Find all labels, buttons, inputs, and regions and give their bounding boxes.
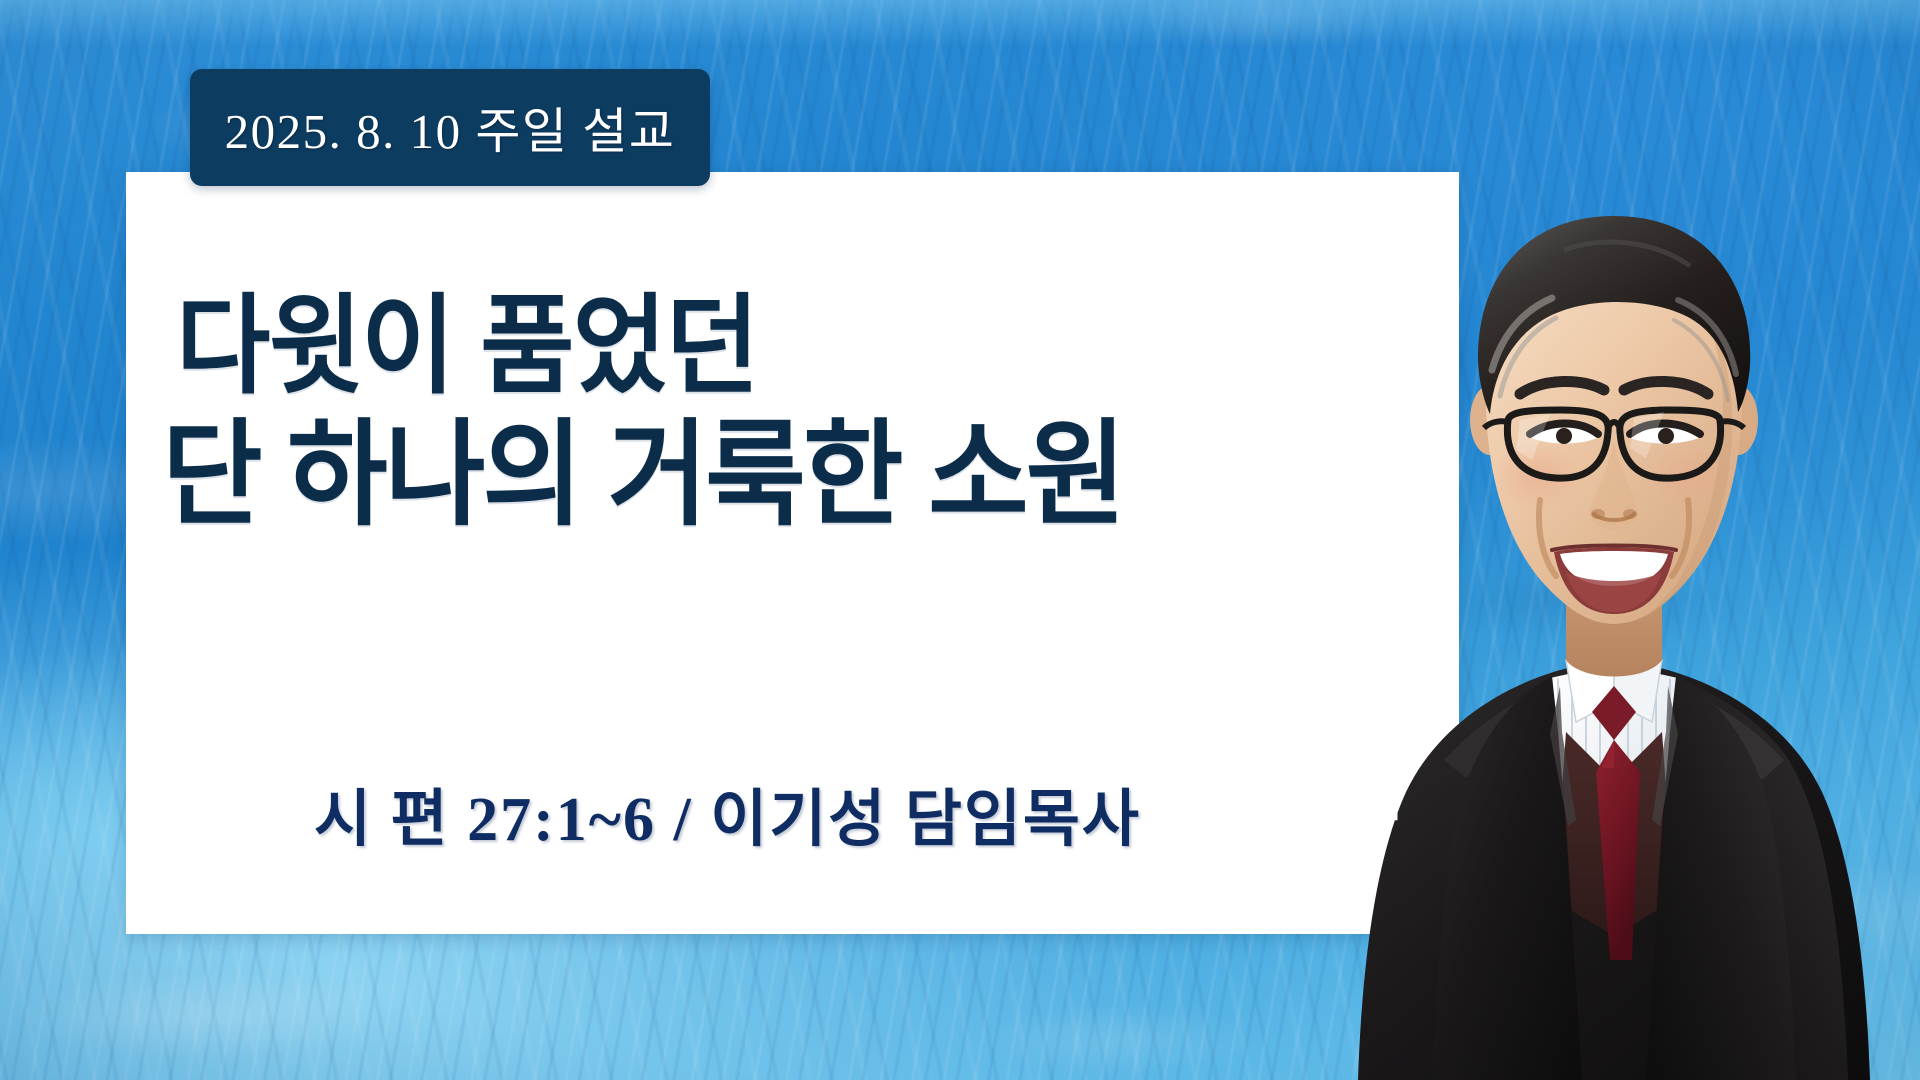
date-badge: 2025. 8. 10 주일 설교	[190, 69, 710, 186]
speaker-portrait	[1314, 120, 1874, 1080]
content-card: 다윗이 품었던 단 하나의 거룩한 소원 시 편 27:1~6 / 이기성 담임…	[126, 172, 1459, 934]
sermon-title-line-1: 다윗이 품었던	[176, 292, 758, 400]
sermon-title-block: 다윗이 품었던 단 하나의 거룩한 소원	[126, 292, 1459, 533]
sermon-title-line-2: 단 하나의 거룩한 소원	[162, 418, 1123, 533]
scripture-and-speaker-line: 시 편 27:1~6 / 이기성 담임목사	[126, 768, 1459, 858]
date-badge-label: 2025. 8. 10 주일 설교	[225, 92, 676, 163]
speaker-portrait-illustration	[1314, 120, 1874, 1080]
